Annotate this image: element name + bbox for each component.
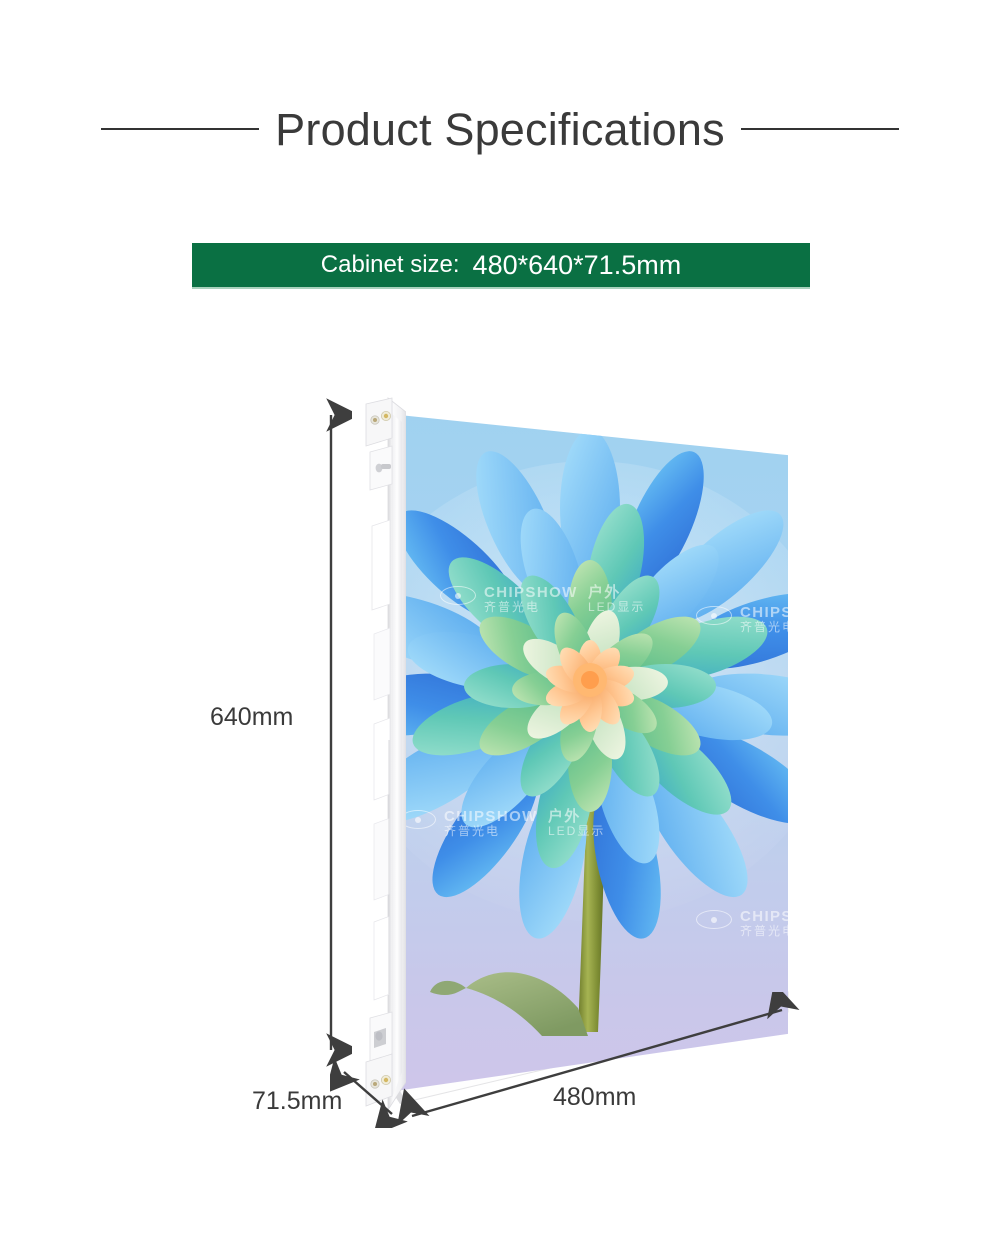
width-dimension-label: 480mm	[553, 1085, 636, 1110]
height-dimension-label: 640mm	[210, 705, 293, 730]
title-rule-left	[101, 128, 259, 130]
cabinet-size-label: Cabinet size:	[321, 253, 460, 277]
cabinet-size-banner: Cabinet size: 480*640*71.5mm	[192, 243, 810, 289]
height-dimension-arrow	[312, 395, 352, 1070]
cabinet-size-value: 480*640*71.5mm	[473, 252, 682, 279]
title-rule-right	[741, 128, 899, 130]
page-title-block: Product Specifications	[0, 96, 1000, 162]
page-title: Product Specifications	[275, 107, 725, 152]
depth-dimension-label: 71.5mm	[252, 1089, 342, 1114]
